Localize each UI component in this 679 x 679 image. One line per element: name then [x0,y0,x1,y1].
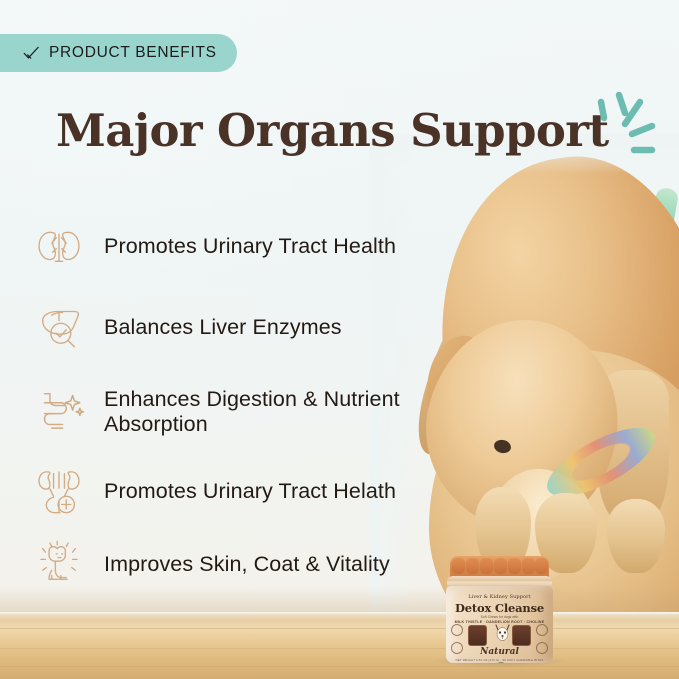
shining-dog-icon [30,534,88,592]
benefit-row: Improves Skin, Coat & Vitality [30,527,500,599]
check-icon [22,44,40,62]
jar-support-line: Liver & Kidney Support [446,594,553,600]
jar-badge-seal [495,662,507,663]
jar-badge-natural [536,624,548,636]
liver-magnifier-icon [30,297,88,355]
intestine-sparkle-icon [30,381,88,439]
benefit-text: Promotes Urinary Tract Health [104,231,396,259]
product-jar: Liver & Kidney Support Detox Cleanse Sof… [443,556,556,663]
product-benefits-badge: PRODUCT BENEFITS [0,34,237,72]
urinary-system-icon [30,461,88,519]
benefit-row: Enhances Digestion & Nutrient Absorption [30,367,500,453]
benefit-row: Promotes Urinary Tract Helath [30,453,500,527]
jar-badge-vet-formulated [451,624,463,636]
benefit-text: Improves Skin, Coat & Vitality [104,549,390,577]
wooden-floor [0,612,679,679]
jar-seal-badge [468,625,487,646]
benefit-text: Enhances Digestion & Nutrient Absorption [104,384,500,437]
starburst-icon [592,86,664,166]
benefit-text: Promotes Urinary Tract Helath [104,476,396,504]
jar-product-name: Detox Cleanse [446,601,553,615]
badge-label: PRODUCT BENEFITS [49,45,217,61]
benefit-text: Balances Liver Enzymes [104,312,342,340]
dog-paw [607,499,665,573]
jar-badge-grain-free [536,642,548,654]
benefits-list: Promotes Urinary Tract Health Balances L… [30,205,500,599]
jar-form-line: Soft Chews for dogs with [446,615,553,619]
kidneys-icon [30,216,88,274]
jar-dog-head-icon [494,622,511,646]
benefit-row: Promotes Urinary Tract Health [30,205,500,285]
jar-badge-no-fillers [451,642,463,654]
jar-label: Liver & Kidney Support Detox Cleanse Sof… [446,586,553,663]
jar-seal-badge [512,625,531,646]
product-benefits-infographic: PRODUCT BENEFITS Major Organs Support Pr… [0,0,679,679]
benefit-row: Balances Liver Enzymes [30,285,500,367]
page-title: Major Organs Support [56,108,636,153]
